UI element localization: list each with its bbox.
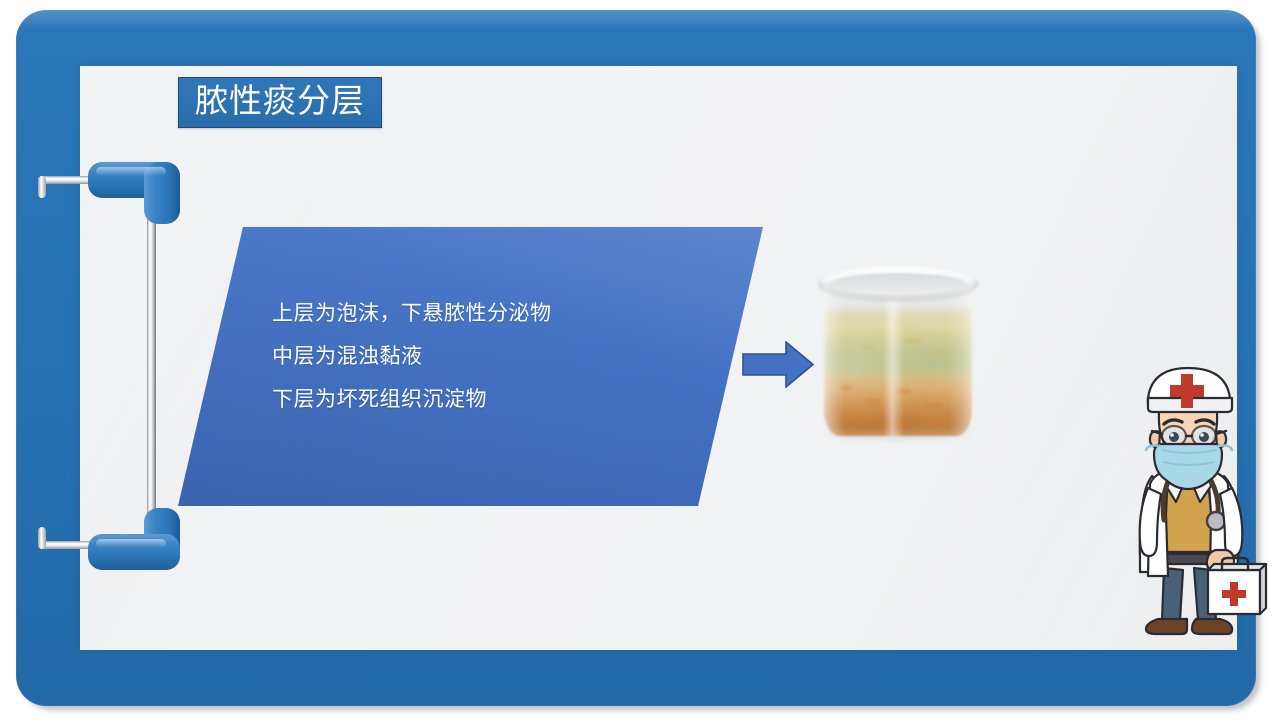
slide-title-box: 脓性痰分层 (178, 77, 382, 128)
page-title: 脓性痰分层 (195, 86, 365, 119)
handle-rod-tail-bottom (38, 527, 46, 549)
specimen-cup-rim-inner (830, 273, 966, 295)
handle-rod-tail-top (38, 176, 46, 198)
content-line-1: 上层为泡沫，下悬脓性分泌物 (272, 292, 712, 335)
cartoon-doctor-illustration (1112, 358, 1272, 643)
handle-elbow-top-gloss (96, 167, 166, 176)
content-text-block: 上层为泡沫，下悬脓性分泌物 中层为混浊黏液 下层为坏死组织沉淀物 (272, 292, 712, 421)
clipboard-pull-handle (30, 160, 180, 570)
handle-elbow-top (88, 162, 180, 224)
specimen-cup-image (818, 258, 978, 440)
handle-elbow-bottom-gloss (96, 539, 166, 548)
slide-canvas: 脓性痰分层 上层为泡沫，下悬脓性分泌物 中层为混浊黏液 下层为坏死组织沉淀物 (0, 0, 1280, 720)
right-arrow-icon (742, 341, 814, 388)
content-line-2: 中层为混浊黏液 (272, 335, 712, 378)
handle-elbow-bottom (88, 508, 180, 570)
handle-rod-vertical (147, 208, 156, 530)
specimen-cup-contents (824, 280, 972, 436)
content-line-3: 下层为坏死组织沉淀物 (272, 378, 712, 421)
